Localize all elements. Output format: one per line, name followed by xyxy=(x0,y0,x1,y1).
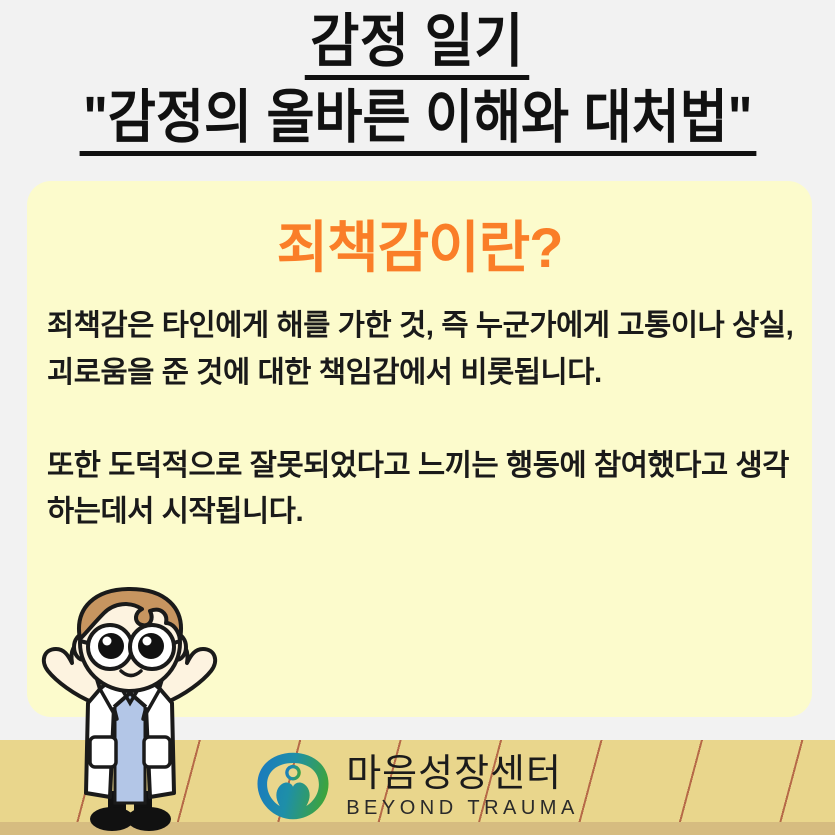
heart-person-circle-logo-icon xyxy=(256,751,330,821)
brand-text: 마음성장센터 BEYOND TRAUMA xyxy=(346,755,579,818)
page-title: 감정 일기 xyxy=(0,12,835,80)
body-paragraph: 죄책감은 타인에게 해를 가한 것, 즉 누군가에게 고통이나 상실, 괴로움을… xyxy=(47,303,795,396)
section-heading: 죄책감이란? xyxy=(27,203,812,284)
footer: 마음성장센터 BEYOND TRAUMA xyxy=(0,740,835,835)
page-subtitle-text: "감정의 올바른 이해와 대처법" xyxy=(79,88,756,156)
emotion-diary-card: 감정 일기 "감정의 올바른 이해와 대처법" 죄책감이란? 죄책감은 타인에게… xyxy=(0,0,835,835)
brand-name-korean: 마음성장센터 xyxy=(346,755,562,793)
brand-name-english: BEYOND TRAUMA xyxy=(346,798,579,818)
page-subtitle: "감정의 올바른 이해와 대처법" xyxy=(0,88,835,156)
content-card: 죄책감이란? 죄책감은 타인에게 해를 가한 것, 즉 누군가에게 고통이나 상… xyxy=(27,181,812,717)
body-paragraph: 또한 도덕적으로 잘못되었다고 느끼는 행동에 참여했다고 생각하는데서 시작됩… xyxy=(47,443,795,536)
page-title-text: 감정 일기 xyxy=(305,12,530,80)
baseboard-strip xyxy=(0,822,835,835)
brand-lockup: 마음성장센터 BEYOND TRAUMA xyxy=(0,746,835,826)
body-text: 죄책감은 타인에게 해를 가한 것, 즉 누군가에게 고통이나 상실, 괴로움을… xyxy=(47,303,795,536)
header: 감정 일기 "감정의 올바른 이해와 대처법" xyxy=(0,0,835,181)
